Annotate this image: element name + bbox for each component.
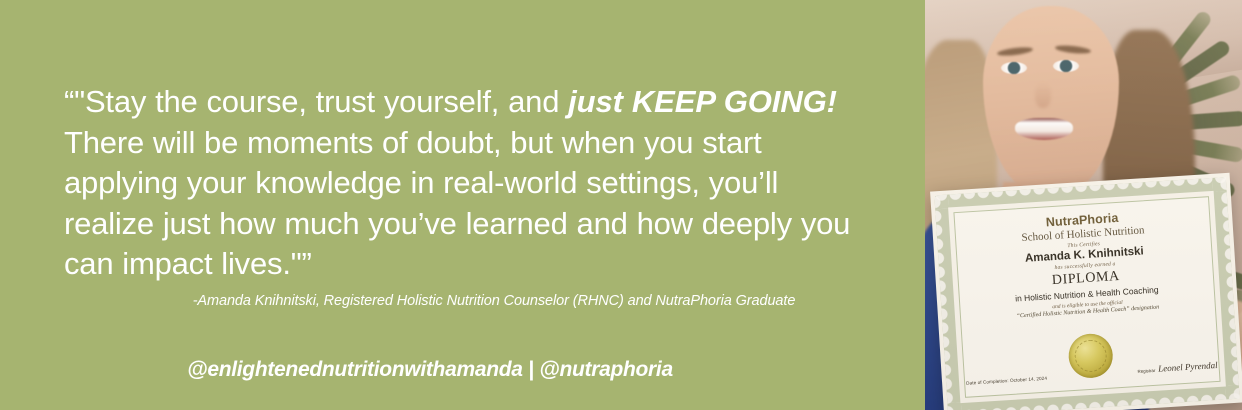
quote-open-marks: “" — [64, 84, 85, 119]
quote-attribution: -Amanda Knihnitski, Registered Holistic … — [64, 293, 924, 309]
quote-panel: “"Stay the course, trust yourself, and j… — [0, 0, 925, 410]
testimonial-quote: “"Stay the course, trust yourself, and j… — [64, 82, 864, 285]
quote-part-one: Stay the course, trust yourself, and — [85, 84, 568, 119]
nose — [1035, 82, 1051, 108]
graduate-photo: NutraPhoria School of Holistic Nutrition… — [925, 0, 1242, 410]
quote-part-two: There will be moments of doubt, but when… — [64, 125, 850, 282]
quote-emphasis: just KEEP GOING! — [568, 84, 837, 119]
diploma-certificate: NutraPhoria School of Holistic Nutrition… — [930, 173, 1242, 410]
promo-graphic: “"Stay the course, trust yourself, and j… — [0, 0, 1242, 410]
quote-close-marks: "” — [291, 246, 312, 281]
certificate-signature-label: Registrar — [1137, 368, 1155, 374]
social-handles: @enlightenednutritionwithamanda | @nutra… — [30, 358, 830, 382]
eye-left — [1001, 62, 1027, 74]
eye-right — [1053, 60, 1079, 72]
smile — [1015, 118, 1073, 140]
